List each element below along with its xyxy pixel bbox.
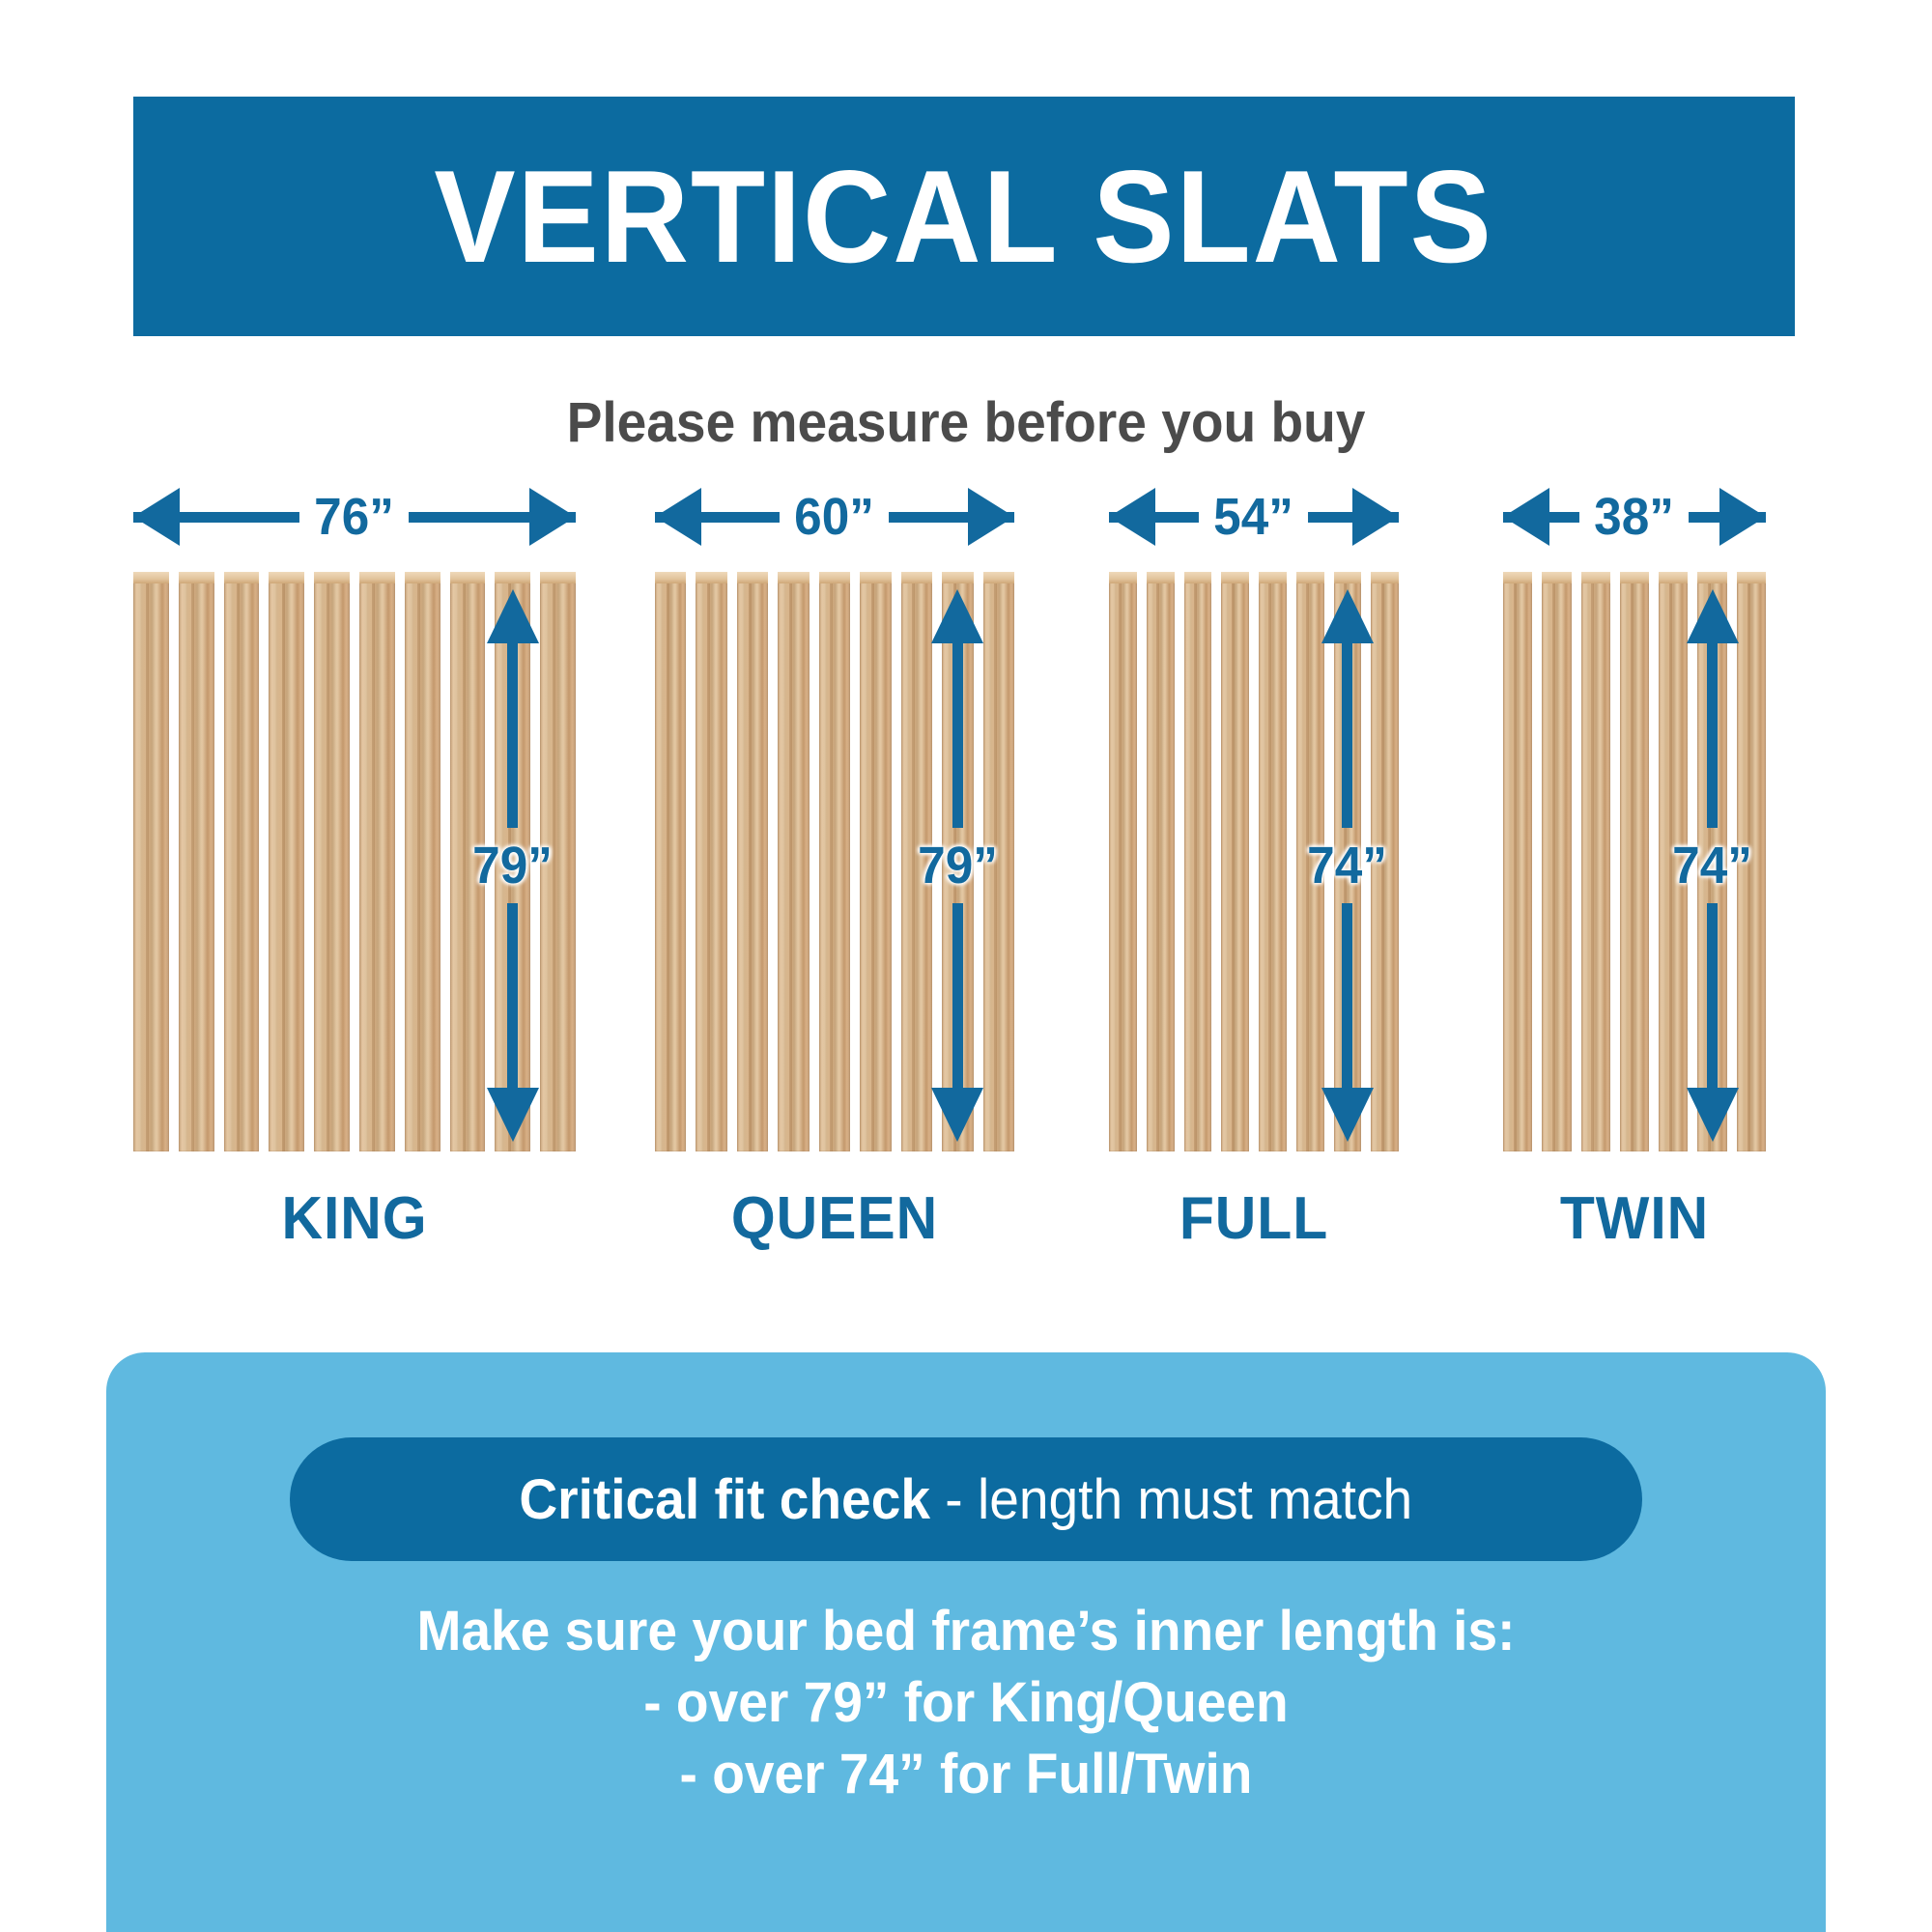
subtitle-text: Please measure before you buy <box>48 390 1884 455</box>
wood-slat <box>1503 572 1532 1151</box>
height-label: 79” <box>472 828 553 903</box>
arrow-up-icon <box>487 589 539 643</box>
size-label-queen: QUEEN <box>664 1184 1005 1253</box>
bottom-callout-panel: Critical fit check - length must match M… <box>106 1352 1826 1932</box>
arrow-up-icon <box>1321 589 1374 643</box>
note-block: Make sure your bed frame’s inner length … <box>106 1596 1826 1811</box>
height-dimension-queen: 79” <box>923 589 991 1142</box>
width-label: 54” <box>1199 487 1308 547</box>
arrow-right-icon <box>968 488 1014 546</box>
arrow-up-icon <box>931 589 983 643</box>
height-label: 74” <box>1308 828 1388 903</box>
page-title: VERTICAL SLATS <box>435 151 1493 282</box>
arrow-right-icon <box>529 488 576 546</box>
wood-slat <box>1259 572 1287 1151</box>
wood-slat <box>655 572 686 1151</box>
note-line-2: - over 79” for King/Queen <box>150 1667 1783 1739</box>
wood-slat <box>860 572 891 1151</box>
arrow-right-icon <box>1719 488 1766 546</box>
height-arrow-line-lower <box>1707 903 1718 1088</box>
note-line-3: - over 74” for Full/Twin <box>150 1739 1783 1810</box>
wood-slat <box>1147 572 1175 1151</box>
size-label-king: KING <box>144 1184 564 1253</box>
wood-slat <box>359 572 395 1151</box>
wood-slat <box>405 572 440 1151</box>
height-arrow-line-upper <box>952 643 963 828</box>
arrow-left-icon <box>1503 488 1549 546</box>
size-group-queen: 60”79”QUEEN <box>655 483 1014 1253</box>
size-label-twin: TWIN <box>1510 1184 1759 1253</box>
wood-slat <box>269 572 304 1151</box>
width-dimension-queen: 60” <box>655 483 1014 551</box>
wood-slat <box>1109 572 1137 1151</box>
height-dimension-twin: 74” <box>1679 589 1747 1142</box>
arrow-right-icon <box>1352 488 1399 546</box>
height-dimension-full: 74” <box>1314 589 1381 1142</box>
slat-panel-king: 79” <box>133 572 576 1151</box>
wood-slat <box>1184 572 1212 1151</box>
wood-slat <box>778 572 809 1151</box>
width-dimension-twin: 38” <box>1503 483 1766 551</box>
wood-slat <box>1221 572 1249 1151</box>
wood-slat <box>179 572 214 1151</box>
wood-slat <box>1620 572 1649 1151</box>
wood-slat <box>224 572 260 1151</box>
arrow-down-icon <box>931 1088 983 1142</box>
arrow-down-icon <box>1321 1088 1374 1142</box>
pill-strong-text: Critical fit check <box>520 1468 931 1531</box>
arrow-left-icon <box>133 488 180 546</box>
arrow-down-icon <box>1687 1088 1739 1142</box>
width-label: 38” <box>1579 487 1689 547</box>
arrow-left-icon <box>655 488 701 546</box>
size-group-king: 76”79”KING <box>133 483 576 1253</box>
wood-slat <box>819 572 850 1151</box>
wood-slat <box>314 572 350 1151</box>
slat-panel-queen: 79” <box>655 572 1014 1151</box>
critical-fit-pill: Critical fit check - length must match <box>290 1437 1642 1561</box>
height-label: 79” <box>918 828 998 903</box>
height-arrow-line-upper <box>507 643 518 828</box>
size-group-twin: 38”74”TWIN <box>1503 483 1766 1253</box>
size-groups-row: 76”79”KING60”79”QUEEN54”74”FULL38”74”TWI… <box>0 483 1932 1285</box>
size-label-full: FULL <box>1117 1184 1392 1253</box>
arrow-down-icon <box>487 1088 539 1142</box>
wood-slat <box>696 572 726 1151</box>
wood-slat <box>1542 572 1571 1151</box>
note-line-1: Make sure your bed frame’s inner length … <box>150 1596 1783 1667</box>
width-label: 76” <box>299 487 409 547</box>
width-dimension-full: 54” <box>1109 483 1399 551</box>
wood-slat <box>1581 572 1610 1151</box>
height-dimension-king: 79” <box>479 589 547 1142</box>
slat-panel-twin: 74” <box>1503 572 1766 1151</box>
height-arrow-line-lower <box>507 903 518 1088</box>
height-arrow-line-upper <box>1342 643 1352 828</box>
arrow-up-icon <box>1687 589 1739 643</box>
wood-slat <box>737 572 768 1151</box>
pill-text: Critical fit check - length must match <box>520 1467 1413 1532</box>
slat-panel-full: 74” <box>1109 572 1399 1151</box>
wood-slat <box>133 572 169 1151</box>
height-arrow-line-upper <box>1707 643 1718 828</box>
height-arrow-line-lower <box>952 903 963 1088</box>
header-banner: VERTICAL SLATS <box>133 97 1795 336</box>
height-arrow-line-lower <box>1342 903 1352 1088</box>
width-label: 60” <box>780 487 889 547</box>
pill-rest-text: - length must match <box>930 1468 1412 1531</box>
height-label: 74” <box>1672 828 1752 903</box>
width-dimension-king: 76” <box>133 483 576 551</box>
arrow-left-icon <box>1109 488 1155 546</box>
infographic-page: VERTICAL SLATS Please measure before you… <box>0 0 1932 1932</box>
size-group-full: 54”74”FULL <box>1109 483 1399 1253</box>
